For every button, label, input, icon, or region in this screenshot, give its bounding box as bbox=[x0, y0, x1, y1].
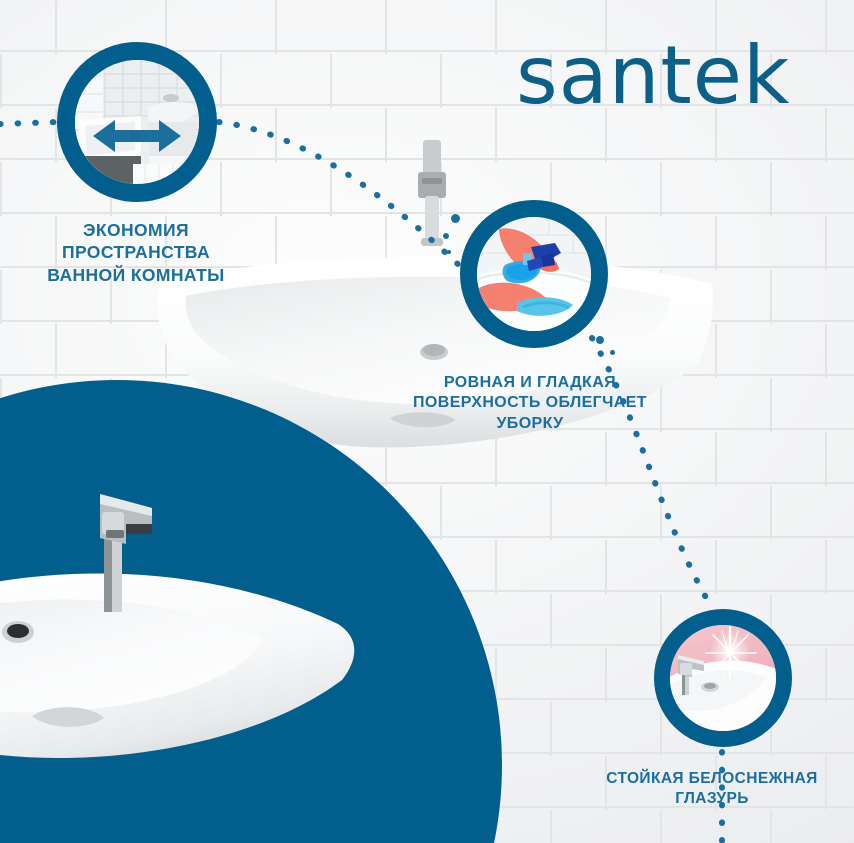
gloved-hands-spray-bottle-icon bbox=[477, 217, 591, 331]
decorative-dot bbox=[451, 214, 460, 223]
bathroom-width-arrow-icon bbox=[75, 60, 199, 184]
feature-caption-clean: РОВНАЯ И ГЛАДКАЯ ПОВЕРХНОСТЬ ОБЛЕГЧАЕТ У… bbox=[355, 373, 705, 434]
brand-logo: santek bbox=[516, 36, 790, 116]
feature-badge-space[interactable] bbox=[57, 42, 217, 202]
decorative-dot bbox=[610, 350, 615, 355]
decorative-dot bbox=[596, 336, 604, 344]
decorative-dot bbox=[447, 250, 451, 254]
feature-caption-space: ЭКОНОМИЯ ПРОСТРАНСТВА ВАННОЙ КОМНАТЫ bbox=[0, 219, 272, 286]
decorative-dot bbox=[443, 233, 449, 239]
feature-badge-glaze[interactable] bbox=[654, 609, 792, 747]
feature-caption-glaze: СТОЙКАЯ БЕЛОСНЕЖНАЯ ГЛАЗУРЬ bbox=[570, 769, 854, 809]
feature-badge-clean[interactable] bbox=[460, 200, 608, 348]
inset-faucet bbox=[82, 472, 160, 620]
shiny-glazed-sink-icon bbox=[670, 625, 776, 731]
product-poster: ЭКОНОМИЯ ПРОСТРАНСТВА ВАННОЙ КОМНАТЫ РОВ… bbox=[0, 0, 854, 843]
